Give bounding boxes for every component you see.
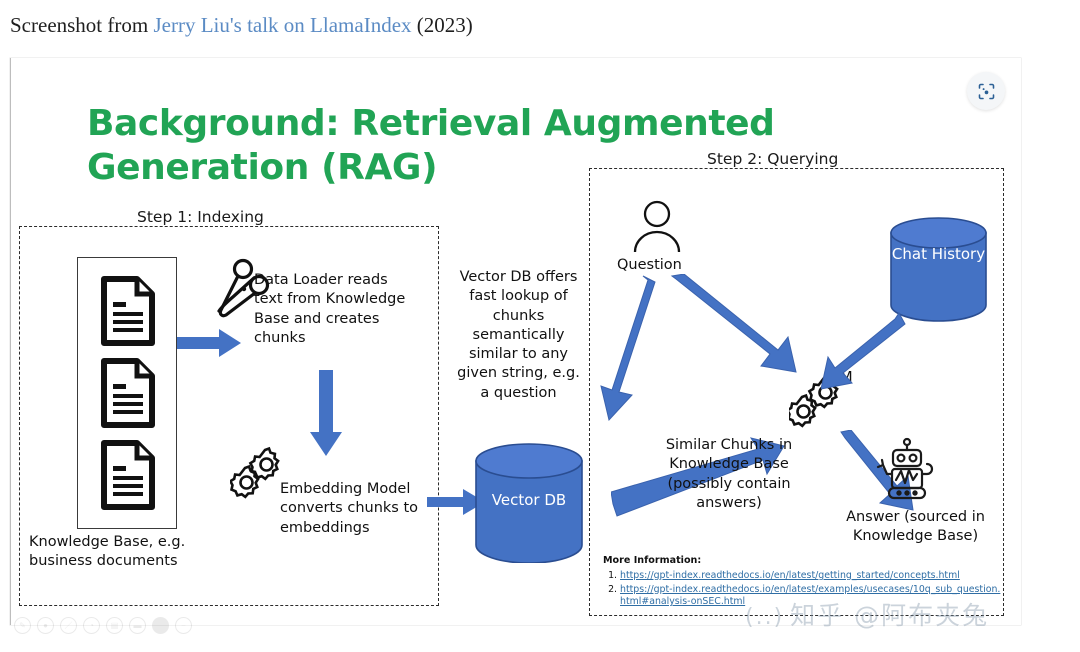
- caption-link[interactable]: Jerry Liu's talk on LlamaIndex: [153, 13, 411, 37]
- knowledge-base-caption: Knowledge Base, e.g. business documents: [29, 533, 199, 572]
- person-icon: [629, 198, 685, 254]
- caption-prefix: Screenshot from: [10, 13, 153, 37]
- lens-scan-button[interactable]: [967, 72, 1005, 110]
- similar-chunks-text: Similar Chunks in Knowledge Base (possib…: [659, 436, 799, 513]
- record-icon[interactable]: ●: [37, 617, 54, 634]
- knowledge-base-container: [77, 257, 177, 529]
- question-label: Question: [617, 256, 682, 275]
- more-information: More Information: https://gpt-index.read…: [603, 555, 1003, 610]
- note-icon[interactable]: ▬: [129, 617, 146, 634]
- arrow-docs-to-loader: [175, 326, 245, 360]
- document-icon: [100, 358, 156, 428]
- more-information-header: More Information:: [603, 555, 1003, 568]
- vector-db-note: Vector DB offers fast lookup of chunks s…: [456, 268, 581, 403]
- vector-db-cylinder: Vector DB: [473, 443, 585, 563]
- slide-image[interactable]: Background: Retrieval Augmented Generati…: [10, 58, 1021, 625]
- document-icon: [100, 440, 156, 510]
- caption-suffix: (2023): [412, 13, 473, 37]
- embedding-model-text: Embedding Model converts chunks to embed…: [280, 480, 430, 538]
- screenshot-root: Screenshot from Jerry Liu's talk on Llam…: [0, 0, 1080, 652]
- slide-toolbar[interactable]: ✎ ● ／ ◔ ▤ ▬ −: [14, 617, 192, 634]
- arrow-chathistory-to-llm: [821, 311, 906, 396]
- list-item[interactable]: https://gpt-index.readthedocs.io/en/late…: [620, 584, 1003, 609]
- lens-scan-icon: [976, 81, 997, 102]
- step2-label: Step 2: Querying: [699, 150, 846, 168]
- cylinder-shape: [888, 217, 989, 322]
- arrow-question-to-llm: [666, 274, 801, 384]
- step1-label: Step 1: Indexing: [129, 208, 272, 226]
- data-loader-text: Data Loader reads text from Knowledge Ba…: [254, 271, 419, 348]
- arrow-question-to-vectordb: [599, 274, 659, 422]
- camera-icon[interactable]: [152, 617, 169, 634]
- chat-history-label: Chat History: [888, 245, 989, 263]
- more-icon[interactable]: −: [175, 617, 192, 634]
- answer-text: Answer (sourced in Knowledge Base): [833, 508, 998, 547]
- gears-icon: [230, 442, 286, 504]
- more-information-link-2[interactable]: https://gpt-index.readthedocs.io/en/late…: [620, 584, 1000, 608]
- vector-db-label: Vector DB: [473, 491, 585, 509]
- highlighter-icon[interactable]: ／: [60, 617, 77, 634]
- document-icon: [100, 276, 156, 346]
- chat-history-cylinder: Chat History: [888, 217, 989, 322]
- caption: Screenshot from Jerry Liu's talk on Llam…: [10, 13, 473, 38]
- arrow-loader-to-embedding: [308, 368, 344, 460]
- pen-icon[interactable]: ✎: [14, 617, 31, 634]
- more-information-link-1[interactable]: https://gpt-index.readthedocs.io/en/late…: [620, 570, 960, 581]
- robot-icon: [873, 436, 941, 504]
- list-item[interactable]: https://gpt-index.readthedocs.io/en/late…: [620, 570, 1003, 583]
- eraser-icon[interactable]: ◔: [83, 617, 100, 634]
- more-information-list: https://gpt-index.readthedocs.io/en/late…: [603, 570, 1003, 609]
- laser-icon[interactable]: ▤: [106, 617, 123, 634]
